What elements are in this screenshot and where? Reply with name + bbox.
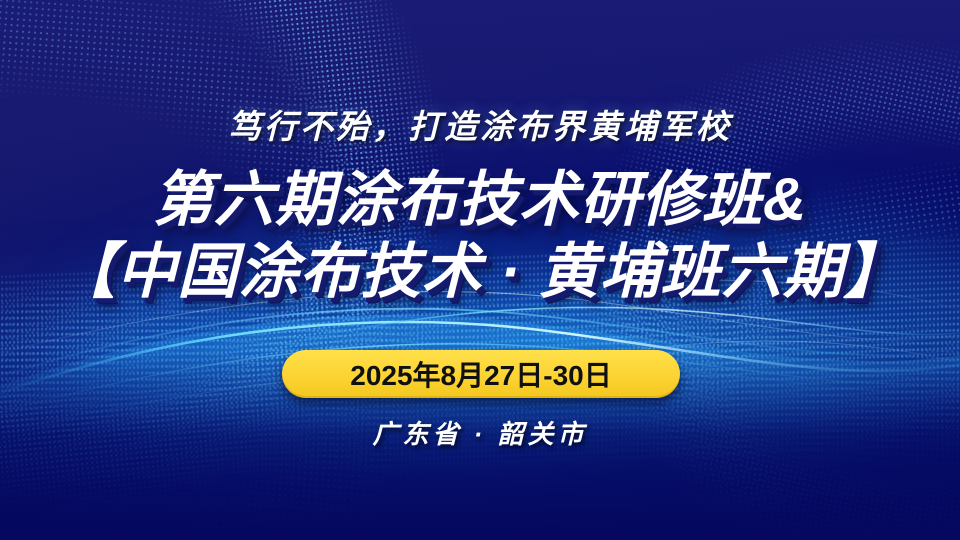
poster-title-line-2: 【中国涂布技术 · 黄埔班六期】 [0, 242, 960, 302]
poster-tagline: 笃行不殆，打造涂布界黄埔军校 [0, 100, 960, 148]
poster-title-line-1: 第六期涂布技术研修班& [0, 170, 960, 230]
poster-title: 第六期涂布技术研修班& 【中国涂布技术 · 黄埔班六期】 [0, 170, 960, 302]
location-label: 广东省 · 韶关市 [0, 414, 960, 451]
date-badge-label: 2025年8月27日-30日 [350, 354, 611, 394]
poster-content: 笃行不殆，打造涂布界黄埔军校 第六期涂布技术研修班& 【中国涂布技术 · 黄埔班… [0, 0, 960, 540]
event-poster: 笃行不殆，打造涂布界黄埔军校 第六期涂布技术研修班& 【中国涂布技术 · 黄埔班… [0, 0, 960, 540]
date-badge: 2025年8月27日-30日 [282, 350, 680, 398]
